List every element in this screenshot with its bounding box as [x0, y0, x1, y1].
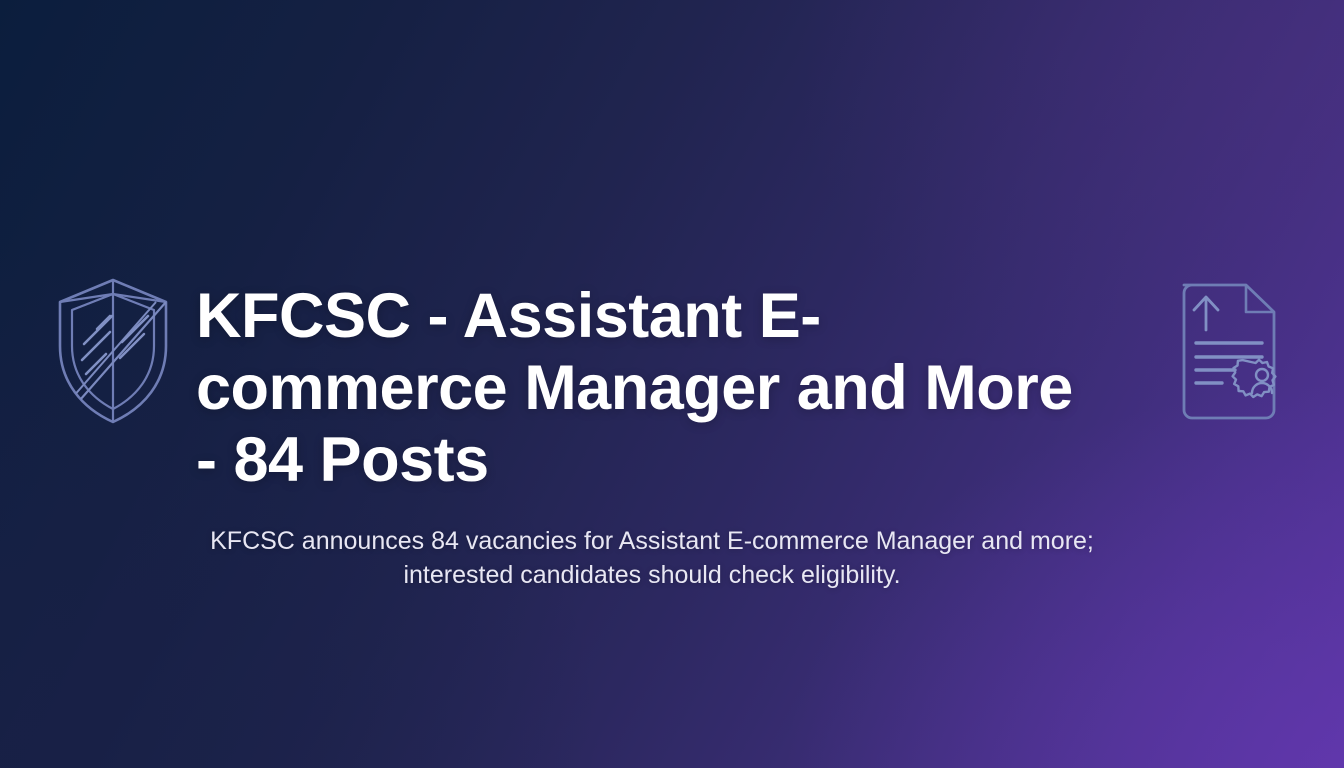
announcement-banner: KFCSC - Assistant E-commerce Manager and… [0, 0, 1344, 768]
shield-icon-graphic [52, 272, 174, 430]
document-icon-graphic [1170, 278, 1288, 428]
document-upload-verified-icon [1170, 278, 1288, 428]
banner-content: KFCSC - Assistant E-commerce Manager and… [196, 280, 1108, 592]
page-title: KFCSC - Assistant E-commerce Manager and… [196, 280, 1108, 496]
shield-icon [52, 272, 174, 430]
page-subtitle: KFCSC announces 84 vacancies for Assista… [196, 524, 1108, 592]
